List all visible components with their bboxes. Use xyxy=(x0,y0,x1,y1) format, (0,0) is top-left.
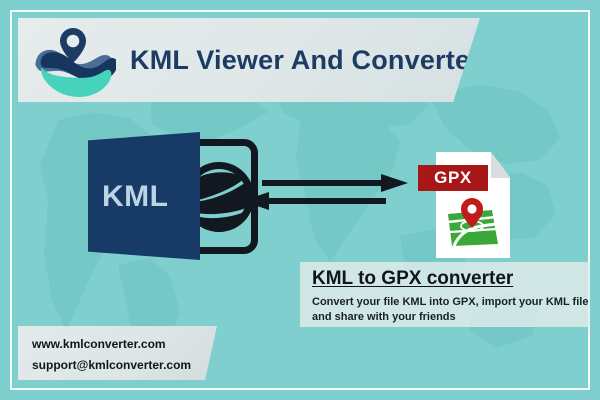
converter-callout: KML to GPX converter Convert your file K… xyxy=(300,262,590,327)
kml-source-illustration: KML xyxy=(88,132,263,260)
contact-panel: www.kmlconverter.com support@kmlconverte… xyxy=(18,326,217,380)
poster-canvas: KML Viewer And Converter KML xyxy=(0,0,600,400)
conversion-arrows xyxy=(240,172,410,218)
website-url[interactable]: www.kmlconverter.com xyxy=(32,334,217,355)
arrow-right-head xyxy=(381,174,408,192)
kml-file-panel: KML xyxy=(88,132,200,260)
callout-title: KML to GPX converter xyxy=(312,268,590,290)
gpx-format-badge: GPX xyxy=(418,165,488,191)
gpx-file-icon: GPX xyxy=(418,152,510,258)
kml-converter-logo xyxy=(30,23,116,97)
kml-label: KML xyxy=(102,180,168,214)
arrow-left-head xyxy=(242,192,269,210)
gpx-label: GPX xyxy=(434,168,472,188)
page-title: KML Viewer And Converter xyxy=(130,45,481,76)
support-email[interactable]: support@kmlconverter.com xyxy=(32,355,217,376)
gpx-map-thumbnail xyxy=(444,198,502,248)
callout-description: Convert your file KML into GPX, import y… xyxy=(312,295,590,325)
header-banner: KML Viewer And Converter xyxy=(18,18,480,102)
